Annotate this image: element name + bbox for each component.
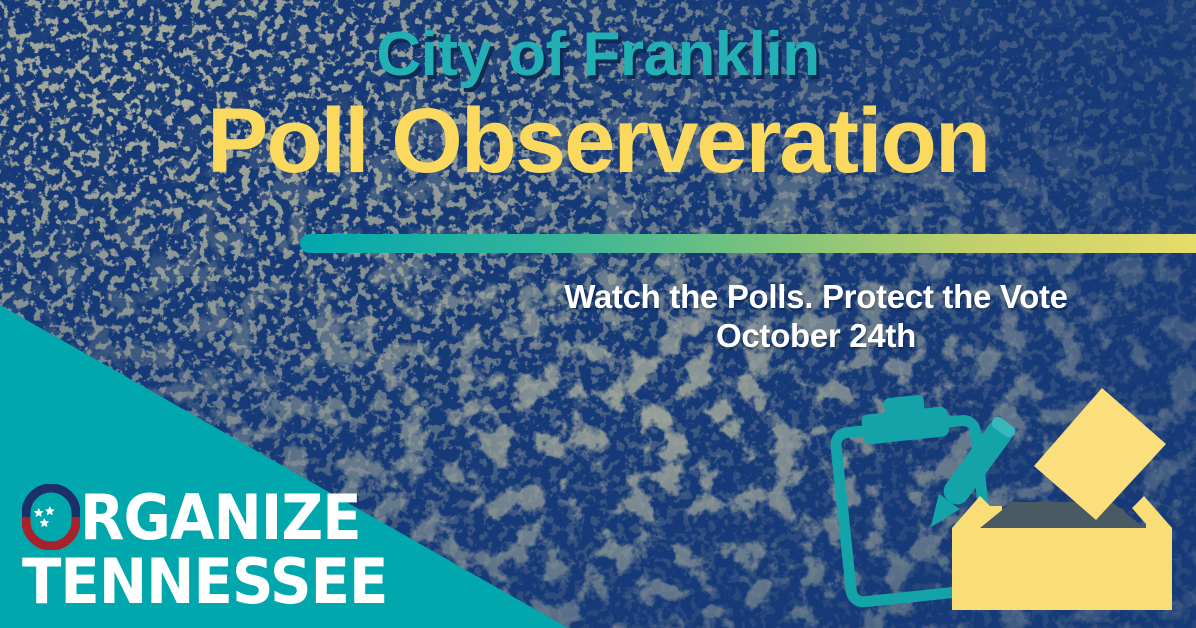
subtitle-line-2: October 24th: [466, 317, 1166, 356]
poll-illustration: [820, 378, 1190, 628]
page-title: Poll Observeration: [0, 93, 1196, 190]
logo-word-organize: RGANIZE: [80, 491, 361, 544]
subtitle-block: Watch the Polls. Protect the Vote Octobe…: [466, 278, 1166, 356]
gradient-divider-bar: [300, 234, 1196, 253]
subtitle-line-1: Watch the Polls. Protect the Vote: [466, 278, 1166, 317]
page-eyebrow: City of Franklin: [0, 22, 1196, 87]
organize-tennessee-logo: RGANIZE TENNESSEE: [22, 484, 352, 610]
poster-canvas: City of Franklin Poll Observeration Watc…: [0, 0, 1196, 628]
ballot-box-icon: [952, 496, 1172, 610]
heading-block: City of Franklin Poll Observeration: [0, 0, 1196, 190]
logo-first-line: RGANIZE: [22, 484, 352, 550]
logo-word-tennessee: TENNESSEE: [22, 554, 329, 610]
tristar-o-icon: [22, 484, 80, 550]
